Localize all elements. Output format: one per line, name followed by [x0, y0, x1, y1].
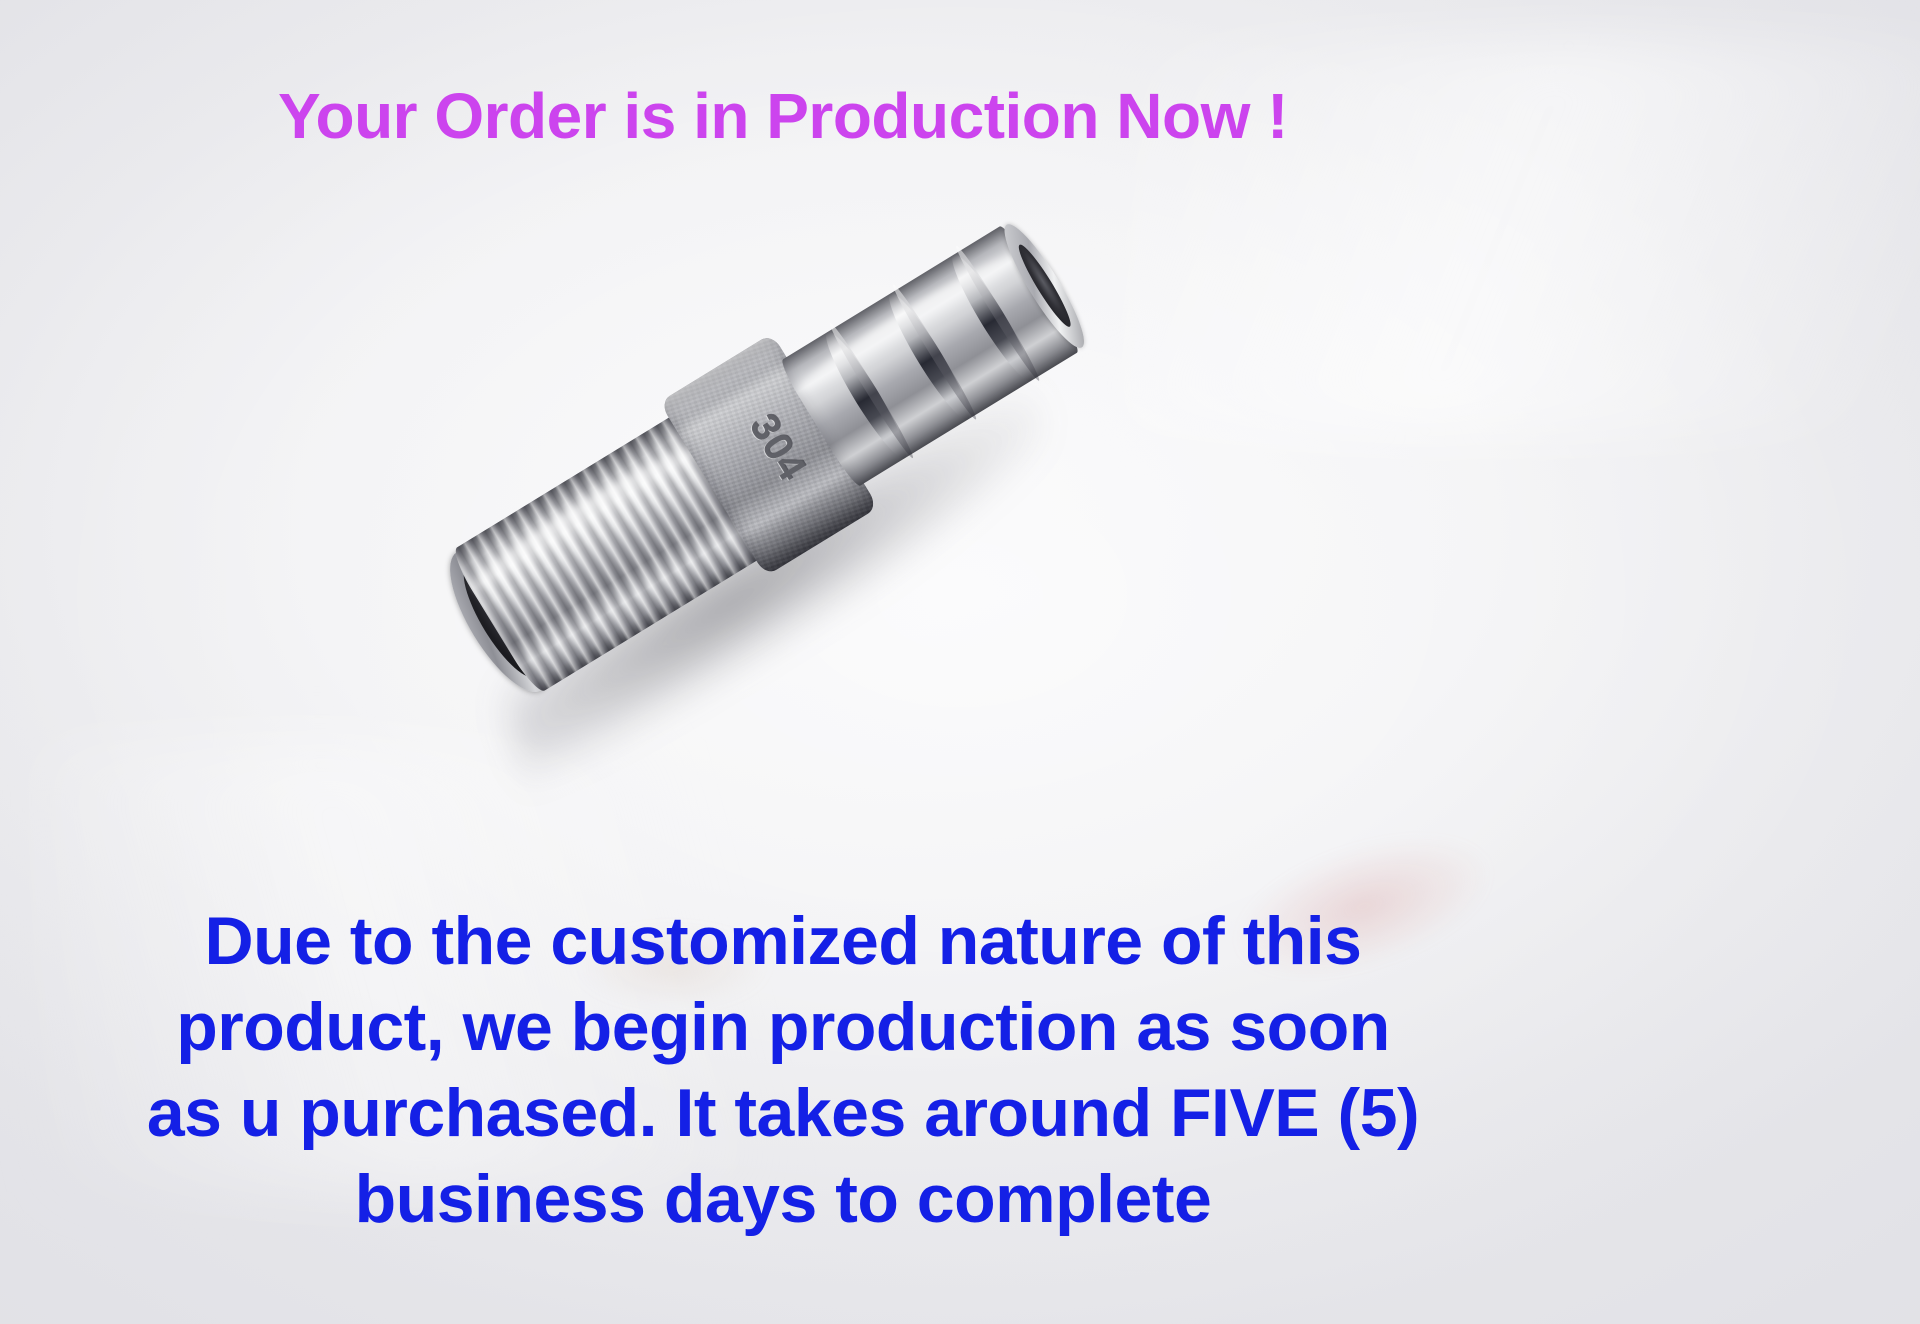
body-copy-line-2: product, we begin production as soon [0, 984, 1566, 1070]
body-copy-line-3: as u purchased. It takes around FIVE (5) [0, 1070, 1566, 1156]
announcement-banner: 304 Your Order is in Production Now ! Du… [0, 0, 1920, 1324]
body-copy-line-1: Due to the customized nature of this [0, 898, 1566, 984]
body-copy-text: Due to the customized nature of this pro… [0, 898, 1566, 1242]
product-photo: 304 [430, 250, 1190, 770]
body-copy-line-4: business days to complete [0, 1156, 1566, 1242]
headline-text: Your Order is in Production Now ! [0, 84, 1566, 148]
